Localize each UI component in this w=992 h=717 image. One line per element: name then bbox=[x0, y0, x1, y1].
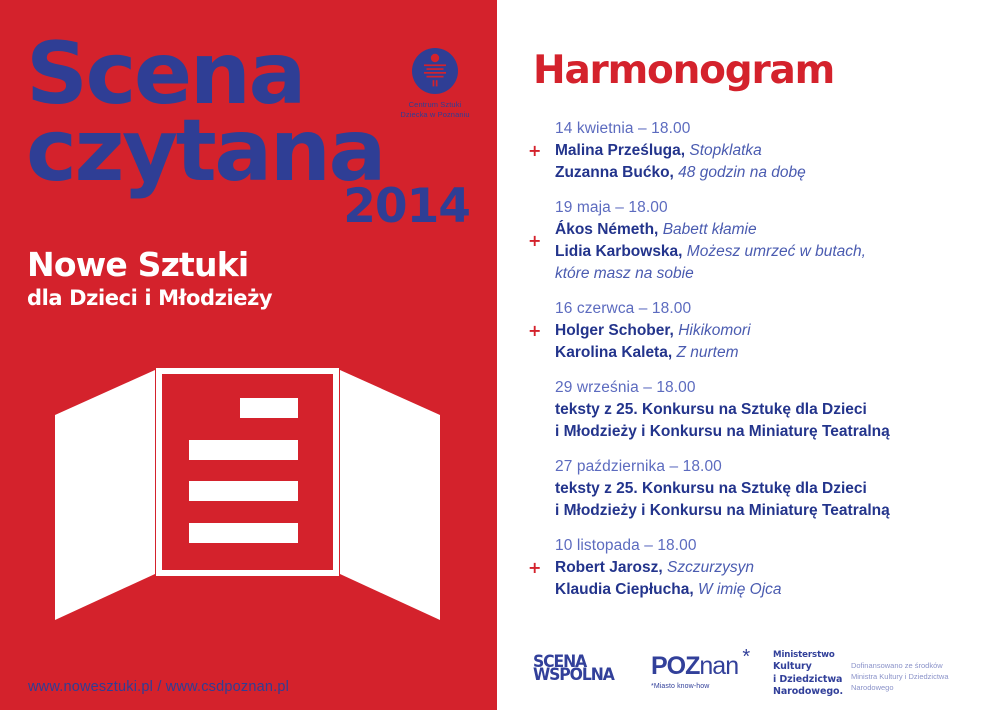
schedule-entry: +19 maja – 18.00Ákos Németh, Babett kłam… bbox=[497, 197, 992, 285]
entry-author: Lidia Karbowska, bbox=[555, 243, 682, 260]
entry-play-title: W imię Ojca bbox=[698, 581, 782, 598]
entry-play-title: 48 godzin na dobę bbox=[678, 164, 806, 181]
poster-subtitle-block: Nowe Sztuki dla Dzieci i Młodzieży bbox=[27, 248, 272, 310]
subtitle-main: Nowe Sztuki bbox=[27, 248, 272, 283]
entry-work-line: Holger Schober, Hikikomori bbox=[555, 320, 986, 342]
poster-root: Scena czytana 2014 Nowe Sztuki dla Dziec… bbox=[0, 0, 992, 717]
entry-author: Karolina Kaleta, bbox=[555, 344, 672, 361]
ministry-name-line-3: i Dziedzictwa bbox=[773, 674, 843, 686]
ministry-funding-note: Dofinansowano ze środków Ministra Kultur… bbox=[851, 661, 949, 698]
poznan-wordmark: POZnan* bbox=[651, 654, 738, 679]
entry-plain-line: teksty z 25. Konkursu na Sztukę dla Dzie… bbox=[555, 399, 986, 421]
poznan-star-icon: * bbox=[742, 647, 749, 667]
open-book-stage-icon bbox=[55, 352, 440, 637]
entry-play-title: Możesz umrzeć w butach, bbox=[687, 243, 866, 260]
schedule-heading: Harmonogram bbox=[533, 51, 834, 90]
schedule-list: +14 kwietnia – 18.00Malina Prześluga, St… bbox=[497, 118, 992, 614]
ministry-note-line-1: Dofinansowano ze środków bbox=[851, 661, 949, 672]
entry-plus-icon: + bbox=[528, 560, 541, 576]
entry-work-line: Robert Jarosz, Szczurzysyn bbox=[555, 557, 986, 579]
ministry-note-line-3: Narodowego bbox=[851, 683, 949, 694]
entry-work-line: Klaudia Ciepłucha, W imię Ojca bbox=[555, 579, 986, 601]
csd-logo-caption: Centrum Sztuki Dziecka w Poznaniu bbox=[383, 100, 487, 120]
entry-work-line: Malina Prześluga, Stopklatka bbox=[555, 140, 986, 162]
website-urls[interactable]: www.nowesztuki.pl / www.csdpoznan.pl bbox=[28, 679, 289, 695]
entry-play-title: Babett kłamie bbox=[663, 221, 757, 238]
entry-play-title: Hikikomori bbox=[678, 322, 750, 339]
entry-plus-icon: + bbox=[528, 233, 541, 249]
scena-wspolna-logo: SCENA WSPÓLNA bbox=[533, 656, 621, 683]
entry-work-line: Karolina Kaleta, Z nurtem bbox=[555, 342, 986, 364]
ministry-name-line-2: Kultury bbox=[773, 661, 843, 673]
ministry-logo: Ministerstwo Kultury i Dziedzictwa Narod… bbox=[773, 650, 949, 698]
csd-caption-line-2: Dziecka w Poznaniu bbox=[383, 110, 487, 120]
entry-date: 10 listopada – 18.00 bbox=[555, 535, 986, 557]
schedule-entry: +16 czerwca – 18.00Holger Schober, Hikik… bbox=[497, 298, 992, 364]
entry-plus-icon: + bbox=[528, 143, 541, 159]
entry-author: Malina Prześluga, bbox=[555, 142, 685, 159]
left-red-panel: Scena czytana 2014 Nowe Sztuki dla Dziec… bbox=[0, 0, 497, 710]
right-white-panel: Harmonogram +14 kwietnia – 18.00Malina P… bbox=[497, 0, 992, 717]
csd-logo: Centrum Sztuki Dziecka w Poznaniu bbox=[383, 47, 487, 120]
entry-date: 29 września – 18.00 bbox=[555, 377, 986, 399]
ministry-name-line-4: Narodowego. bbox=[773, 686, 843, 698]
entry-date: 16 czerwca – 18.00 bbox=[555, 298, 986, 320]
poznan-logo: POZnan* *Miasto know-how bbox=[651, 654, 738, 690]
poznan-tagline: *Miasto know-how bbox=[651, 683, 738, 690]
entry-author: Ákos Németh, bbox=[555, 221, 658, 238]
entry-plain-line: i Młodzieży i Konkursu na Miniaturę Teat… bbox=[555, 421, 986, 443]
ministry-name: Ministerstwo Kultury i Dziedzictwa Narod… bbox=[773, 650, 843, 698]
schedule-entry: +29 września – 18.00teksty z 25. Konkurs… bbox=[497, 377, 992, 443]
poznan-word-prefix: POZ bbox=[651, 652, 699, 680]
scena-wspolna-line-2: WSPÓLNA bbox=[533, 669, 614, 682]
entry-play-title: Z nurtem bbox=[676, 344, 738, 361]
entry-author: Klaudia Ciepłucha, bbox=[555, 581, 694, 598]
entry-plain-line: i Młodzieży i Konkursu na Miniaturę Teat… bbox=[555, 500, 986, 522]
ministry-name-line-1: Ministerstwo bbox=[773, 650, 843, 661]
entry-author: Holger Schober, bbox=[555, 322, 674, 339]
entry-date: 19 maja – 18.00 bbox=[555, 197, 986, 219]
entry-work-line: Lidia Karbowska, Możesz umrzeć w butach, bbox=[555, 241, 986, 263]
schedule-entry: +14 kwietnia – 18.00Malina Prześluga, St… bbox=[497, 118, 992, 184]
entry-date: 14 kwietnia – 18.00 bbox=[555, 118, 986, 140]
title-line-czytana: czytana bbox=[26, 115, 476, 189]
csd-caption-line-1: Centrum Sztuki bbox=[383, 100, 487, 110]
entry-play-title: Stopklatka bbox=[689, 142, 761, 159]
sponsor-logos: SCENA WSPÓLNA POZnan* *Miasto know-how M… bbox=[533, 650, 983, 705]
schedule-entry: +27 października – 18.00teksty z 25. Kon… bbox=[497, 456, 992, 522]
entry-date: 27 października – 18.00 bbox=[555, 456, 986, 478]
ministry-note-line-2: Ministra Kultury i Dziedzictwa bbox=[851, 672, 949, 683]
entry-plus-icon: + bbox=[528, 323, 541, 339]
entry-play-title: Szczurzysyn bbox=[667, 559, 754, 576]
entry-play-title: które masz na sobie bbox=[555, 265, 694, 282]
entry-plain-line: teksty z 25. Konkursu na Sztukę dla Dzie… bbox=[555, 478, 986, 500]
entry-work-line: Ákos Németh, Babett kłamie bbox=[555, 219, 986, 241]
subtitle-secondary: dla Dzieci i Młodzieży bbox=[27, 286, 272, 310]
entry-work-line: Zuzanna Bućko, 48 godzin na dobę bbox=[555, 162, 986, 184]
poznan-word-suffix: nan bbox=[699, 652, 738, 680]
entry-work-line: które masz na sobie bbox=[555, 263, 986, 285]
schedule-entry: +10 listopada – 18.00Robert Jarosz, Szcz… bbox=[497, 535, 992, 601]
csd-emblem-icon bbox=[411, 47, 459, 95]
entry-author: Robert Jarosz, bbox=[555, 559, 663, 576]
entry-author: Zuzanna Bućko, bbox=[555, 164, 674, 181]
